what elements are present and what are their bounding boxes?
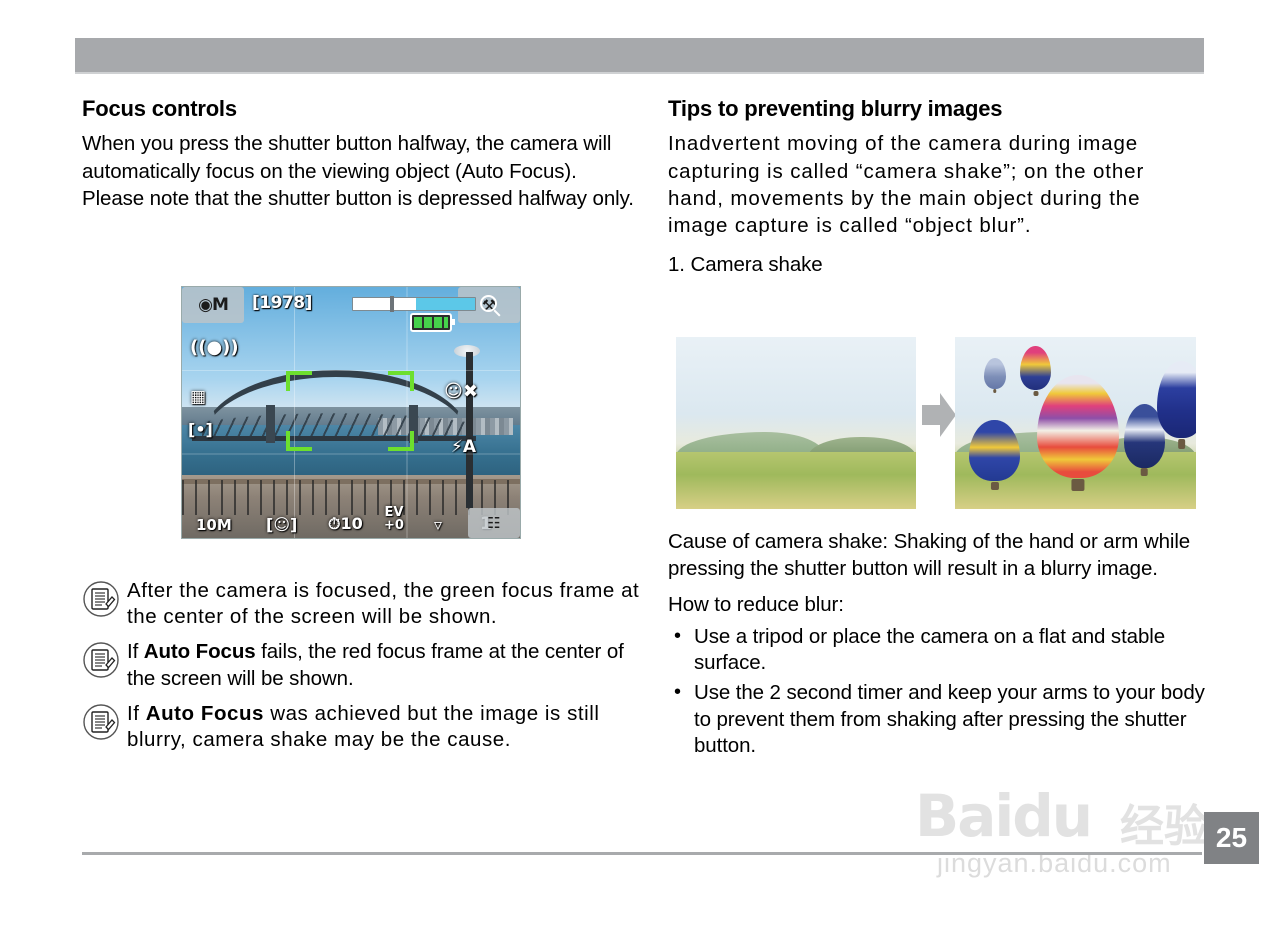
photo-field [676,452,916,509]
header-bar [75,38,1204,72]
note-icon [82,703,120,741]
magnifier-icon [480,295,497,312]
lcd-hud: ◉M ⚒ [1978] ((●)) ▦ [•] ☺✖ ⚡A 10M [☺] ⏱1… [182,287,520,538]
tips-intro-paragraph: Inadvertent moving of the camera during … [668,130,1204,239]
af-area-icon: [•] [188,420,213,439]
portrait-icon: [☺] [266,515,297,534]
exposure-compensation-icon: EV+0 [384,506,404,532]
list-item: Use the 2 second timer and keep your arm… [668,680,1208,760]
camera-mode-icon: ◉M [182,287,244,323]
blurry-photo [676,337,916,509]
note-text: If Auto Focus fails, the red focus frame… [127,639,642,691]
footer-rule [82,852,1202,855]
document-page: Focus controls When you press the shutte… [0,0,1280,931]
watermark: Baidu 经验 jingyan.baidu.com [915,782,1215,892]
notes-list: After the camera is focused, the green f… [82,578,642,762]
watermark-brand-cn: 经验 [1120,790,1208,854]
camera-shake-figure [676,337,1196,509]
camera-shake-subheading: 1. Camera shake [668,251,1204,278]
tips-title: Tips to preventing blurry images [668,96,1204,121]
note-text-bold: Auto Focus [146,702,264,725]
right-column-lower: Cause of camera shake: Shaking of the ha… [668,528,1208,763]
zoom-bar [352,297,476,311]
white-balance-icon: ▿ [434,515,442,534]
list-item: Use a tripod or place the camera on a fl… [668,624,1208,677]
resolution-unit: M [217,516,232,534]
camera-lcd-figure: ◉M ⚒ [1978] ((●)) ▦ [•] ☺✖ ⚡A 10M [☺] ⏱1… [181,286,521,539]
note-text-part: If [127,702,146,725]
note-icon [82,580,120,618]
note-text-bold: Auto Focus [144,640,256,663]
camera-mode-label: M [212,295,228,315]
page-title: Focus controls [82,96,635,121]
scene-mode-icon: ▦ [190,387,206,407]
note-item: After the camera is focused, the green f… [82,578,642,630]
how-to-label: How to reduce blur: [668,591,1208,618]
blur-tips-list: Use a tripod or place the camera on a fl… [668,624,1208,760]
self-timer-value: 10 [340,514,362,533]
face-detection-off-icon: ☺✖ [444,381,478,402]
note-text: After the camera is focused, the green f… [127,578,642,630]
note-item: If Auto Focus was achieved but the image… [82,701,642,753]
watermark-brand: Baidu [915,782,1091,850]
flash-auto-icon: ⚡A [451,437,476,457]
touch-playback-icon: ☷ [468,508,520,538]
right-arrow-icon [922,393,956,437]
note-text-part: If [127,640,144,663]
ev-value: +0 [384,518,404,533]
note-text: If Auto Focus was achieved but the image… [127,701,642,753]
resolution-indicator: 10M [196,516,232,534]
left-column: Focus controls When you press the shutte… [82,96,635,224]
self-timer-icon: ⏱10 [328,514,363,534]
battery-full-icon [410,313,452,332]
balloon-far-left [984,358,1006,389]
cause-paragraph: Cause of camera shake: Shaking of the ha… [668,528,1208,583]
note-item: If Auto Focus fails, the red focus frame… [82,639,642,691]
right-column: Tips to preventing blurry images Inadver… [668,96,1204,279]
page-number: 25 [1204,812,1259,864]
focus-frame-green [286,371,414,451]
sharp-photo [955,337,1196,509]
shots-remaining: [1978] [252,293,312,313]
focus-controls-paragraph: When you press the shutter button halfwa… [82,130,635,212]
note-icon [82,641,120,679]
image-stabilizer-icon: ((●)) [190,337,239,358]
resolution-value: 10 [196,516,217,534]
camera-lcd-screen: ◉M ⚒ [1978] ((●)) ▦ [•] ☺✖ ⚡A 10M [☺] ⏱1… [181,286,521,539]
